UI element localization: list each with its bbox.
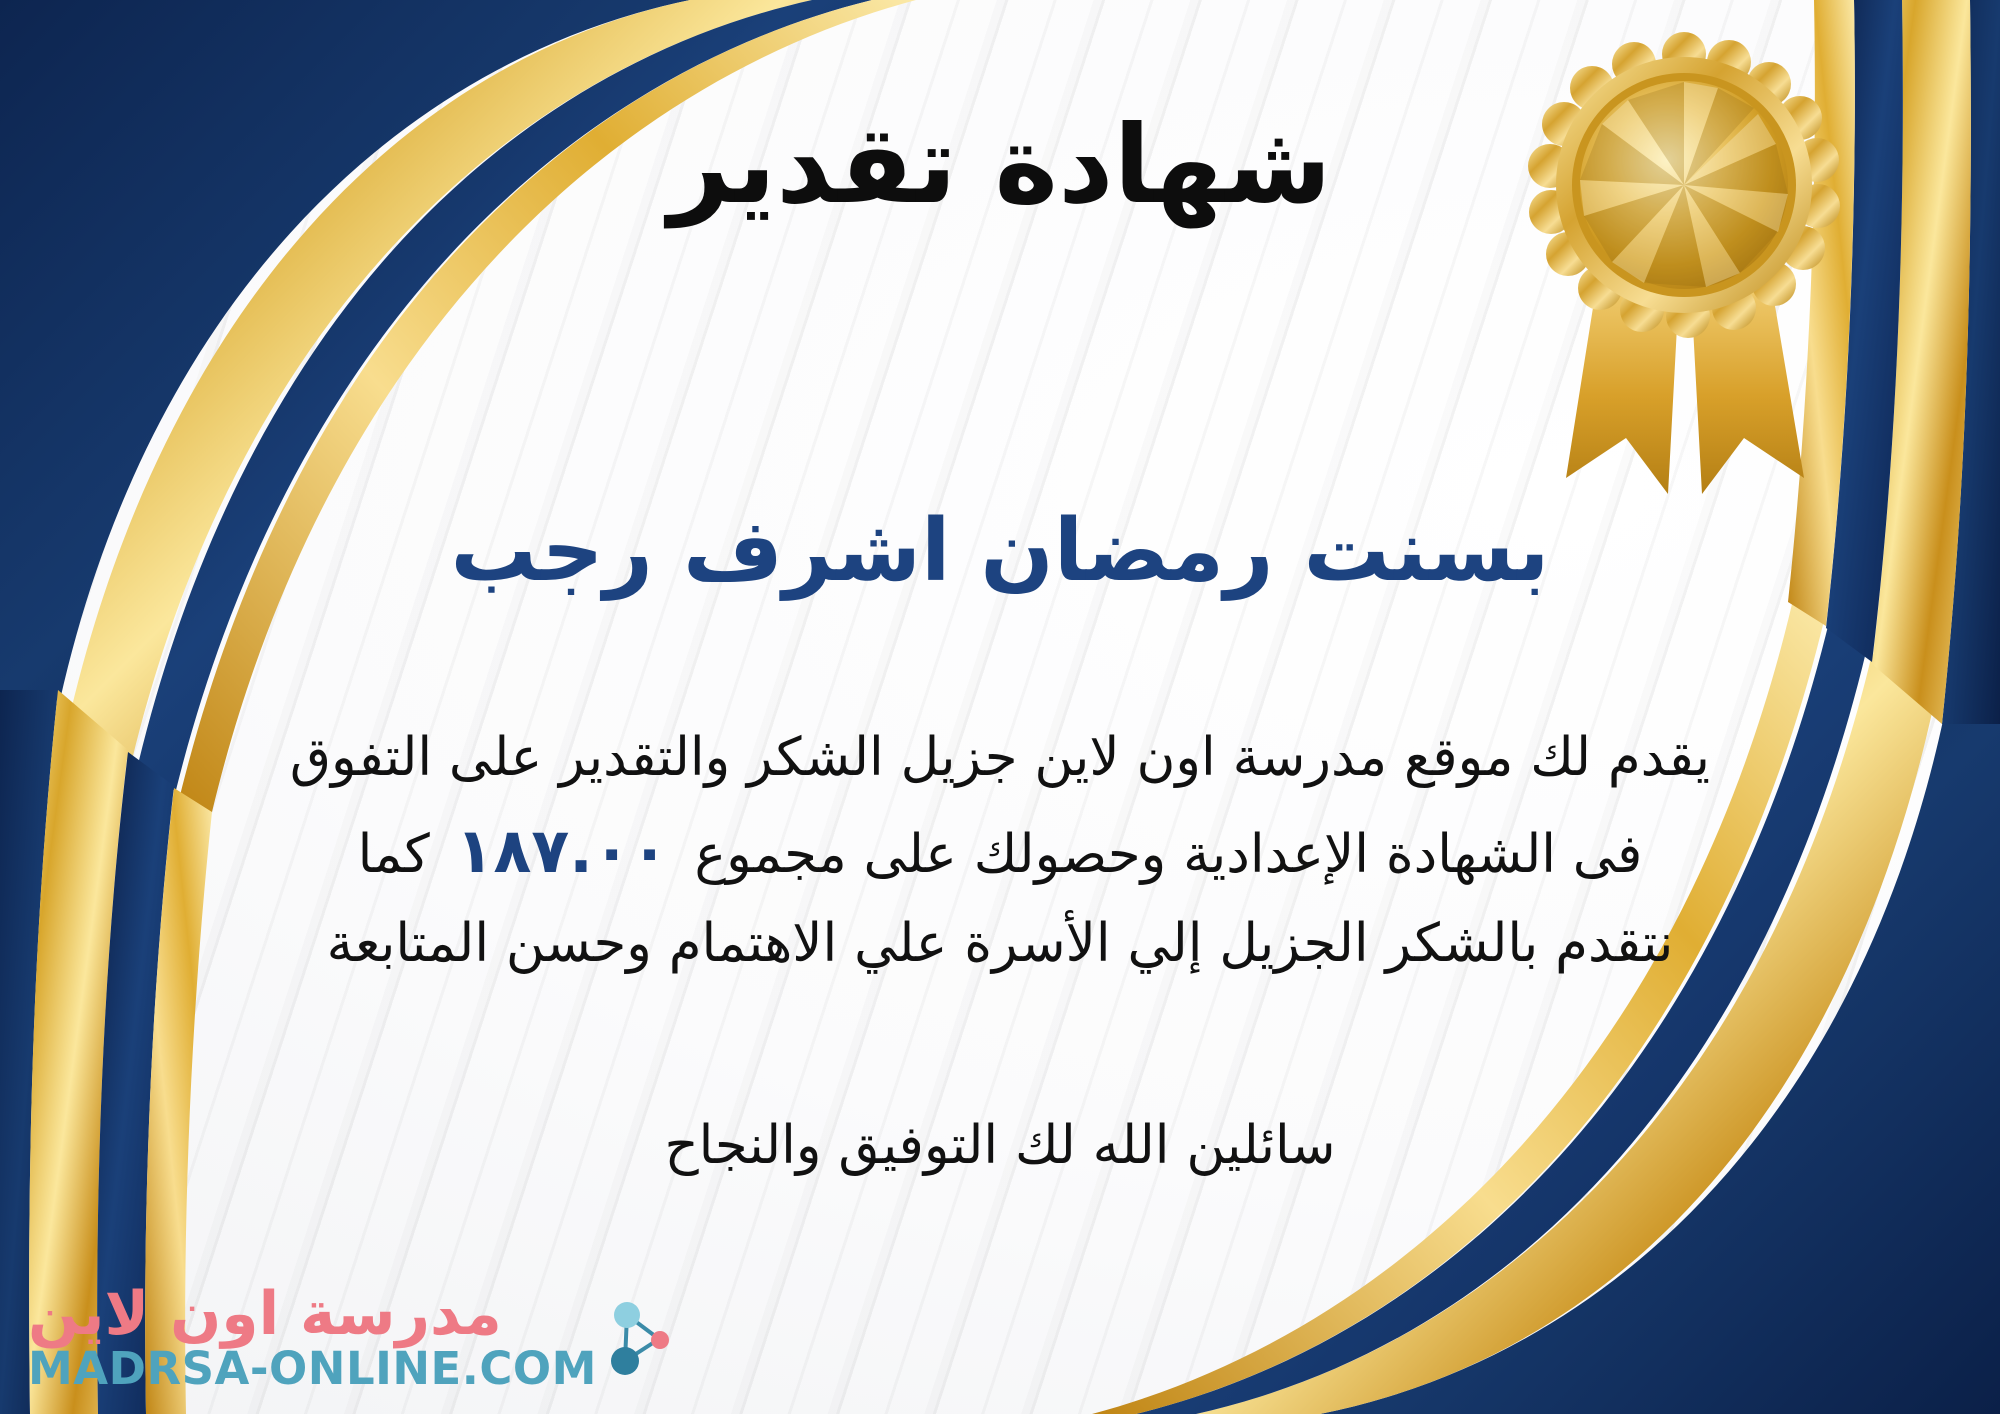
- body-line-2-suffix: كما: [358, 824, 430, 885]
- logo-text-group: مدرسة اون لاين MADRSA-ONLINE.COM: [28, 1284, 597, 1392]
- body-line-2: فى الشهادة الإعدادية وحصولك على مجموع١٨٧…: [60, 801, 1940, 901]
- body-line-1: يقدم لك موقع مدرسة اون لاين جزيل الشكر و…: [60, 715, 1940, 801]
- body-line-2-prefix: فى الشهادة الإعدادية وحصولك على مجموع: [694, 824, 1642, 885]
- body-line-3: نتقدم بالشكر الجزيل إلي الأسرة علي الاهت…: [60, 901, 1940, 987]
- page-title: شهادة تقدير: [0, 104, 2000, 228]
- total-score-value: ١٨٧.٠٠: [430, 814, 695, 887]
- site-logo[interactable]: مدرسة اون لاين MADRSA-ONLINE.COM: [28, 1284, 681, 1392]
- recipient-name: بسنت رمضان اشرف رجب: [0, 500, 2000, 603]
- logo-arabic-name: مدرسة اون لاين: [28, 1284, 502, 1345]
- logo-domain: MADRSA-ONLINE.COM: [28, 1345, 597, 1392]
- closing-wish: سائلين الله لك التوفيق والنجاح: [0, 1115, 2000, 1176]
- network-nodes-icon: [607, 1295, 681, 1381]
- certificate-body: يقدم لك موقع مدرسة اون لاين جزيل الشكر و…: [60, 715, 1940, 987]
- certificate-content: شهادة تقدير بسنت رمضان اشرف رجب يقدم لك …: [0, 0, 2000, 1414]
- certificate-canvas: شهادة تقدير بسنت رمضان اشرف رجب يقدم لك …: [0, 0, 2000, 1414]
